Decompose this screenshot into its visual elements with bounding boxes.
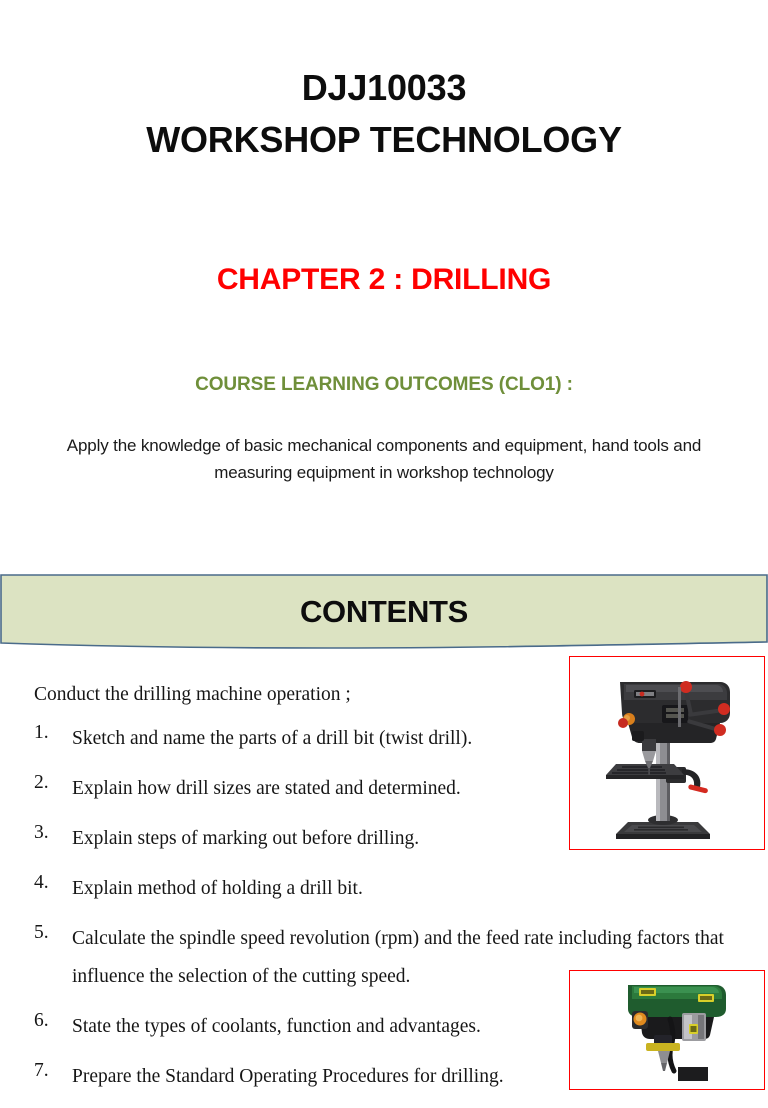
list-item-number: 7. (34, 1058, 72, 1084)
list-item-text: State the types of coolants, function an… (72, 1008, 572, 1046)
drill-press-illustration (570, 657, 763, 848)
course-learning-outcomes-heading: COURSE LEARNING OUTCOMES (CLO1) : (0, 372, 768, 398)
course-name: WORKSHOP TECHNOLOGY (0, 114, 768, 166)
list-item-number: 1. (34, 720, 72, 746)
contents-banner: CONTENTS (0, 574, 768, 656)
list-item-text: Sketch and name the parts of a drill bit… (72, 720, 572, 758)
course-learning-outcomes-body: Apply the knowledge of basic mechanical … (60, 432, 708, 486)
list-item-text: Explain how drill sizes are stated and d… (72, 770, 572, 808)
list-item-number: 3. (34, 820, 72, 846)
drill-press-illustration (570, 971, 763, 1088)
list-item-text: Explain steps of marking out before dril… (72, 820, 572, 858)
contents-banner-label: CONTENTS (0, 592, 768, 632)
list-item-number: 4. (34, 870, 72, 896)
drill-press-image-black (569, 656, 765, 850)
list-item-number: 5. (34, 920, 72, 946)
title-block: DJJ10033 WORKSHOP TECHNOLOGY (0, 62, 768, 166)
list-item: 4. Explain method of holding a drill bit… (34, 870, 724, 908)
list-item-number: 2. (34, 770, 72, 796)
course-code: DJJ10033 (0, 62, 768, 114)
chapter-title: CHAPTER 2 : DRILLING (0, 261, 768, 299)
list-item-text: Explain method of holding a drill bit. (72, 870, 572, 908)
drill-press-image-green (569, 970, 765, 1090)
list-item-number: 6. (34, 1008, 72, 1034)
list-item-text: Prepare the Standard Operating Procedure… (72, 1058, 572, 1096)
